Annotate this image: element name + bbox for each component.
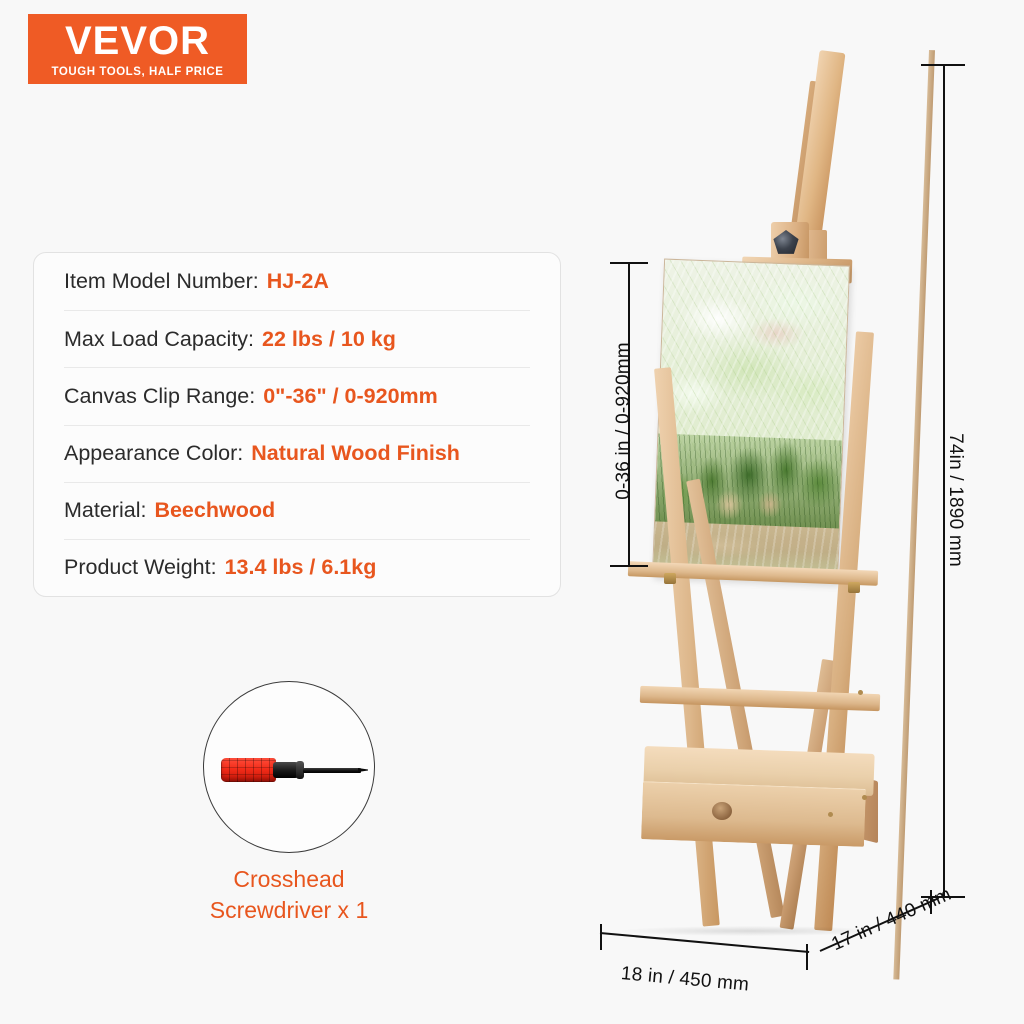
hinge-icon (848, 582, 860, 593)
accessory-circle (203, 681, 375, 853)
spec-label: Product Weight: (64, 555, 217, 580)
spec-row-product-weight: Product Weight: 13.4 lbs / 6.1kg (64, 539, 530, 596)
dimension-tick-width-left (600, 924, 602, 950)
accessory-caption: Crosshead Screwdriver x 1 (160, 864, 418, 925)
spec-value: 22 lbs / 10 kg (262, 327, 396, 352)
dimension-tick-clip-range-bottom (610, 565, 648, 567)
dimension-label-clip-range: 0-36 in / 0-920mm (613, 342, 635, 500)
hinge-icon (664, 573, 676, 584)
accessory-caption-line1: Crosshead (160, 864, 418, 895)
dimension-tick-height-top (921, 64, 965, 66)
spec-row-canvas-clip-range: Canvas Clip Range: 0"-36" / 0-920mm (64, 367, 530, 424)
spec-value: 0"-36" / 0-920mm (263, 384, 438, 409)
spec-label: Canvas Clip Range: (64, 384, 255, 409)
accessory-caption-line2: Screwdriver x 1 (160, 895, 418, 926)
spec-value: 13.4 lbs / 6.1kg (225, 555, 377, 580)
screw-icon (862, 795, 867, 800)
screw-icon (858, 690, 863, 695)
spec-label: Item Model Number: (64, 269, 259, 294)
spec-value: HJ-2A (267, 269, 329, 294)
brand-name: VEVOR (65, 21, 210, 61)
product-spec-sheet: VEVOR TOUGH TOOLS, HALF PRICE Item Model… (0, 0, 1024, 1024)
spec-row-appearance-color: Appearance Color: Natural Wood Finish (64, 425, 530, 482)
screwdriver-shaft-icon (303, 768, 361, 773)
spec-label: Appearance Color: (64, 441, 243, 466)
spec-label: Max Load Capacity: (64, 327, 254, 352)
spec-value: Beechwood (154, 498, 275, 523)
spec-row-max-load-capacity: Max Load Capacity: 22 lbs / 10 kg (64, 310, 530, 367)
brand-tagline: TOUGH TOOLS, HALF PRICE (52, 66, 224, 78)
product-image-easel: VEVOR (590, 50, 930, 980)
dimension-tick-width-right (806, 944, 808, 970)
spec-row-item-model-number: Item Model Number: HJ-2A (64, 253, 530, 310)
dimension-tick-clip-range-top (610, 262, 648, 264)
spec-label: Material: (64, 498, 146, 523)
screwdriver-tip-icon (358, 768, 368, 772)
canvas-side-edge (893, 50, 935, 980)
specification-card: Item Model Number: HJ-2A Max Load Capaci… (33, 252, 561, 597)
screw-icon (828, 812, 833, 817)
spec-row-material: Material: Beechwood (64, 482, 530, 539)
dimension-label-total-height: 74in / 1890 mm (944, 433, 966, 567)
screwdriver-handle-icon (221, 758, 276, 782)
vevor-logo: VEVOR TOUGH TOOLS, HALF PRICE (28, 14, 247, 84)
spec-value: Natural Wood Finish (251, 441, 460, 466)
drawer-pull-icon (712, 802, 732, 820)
